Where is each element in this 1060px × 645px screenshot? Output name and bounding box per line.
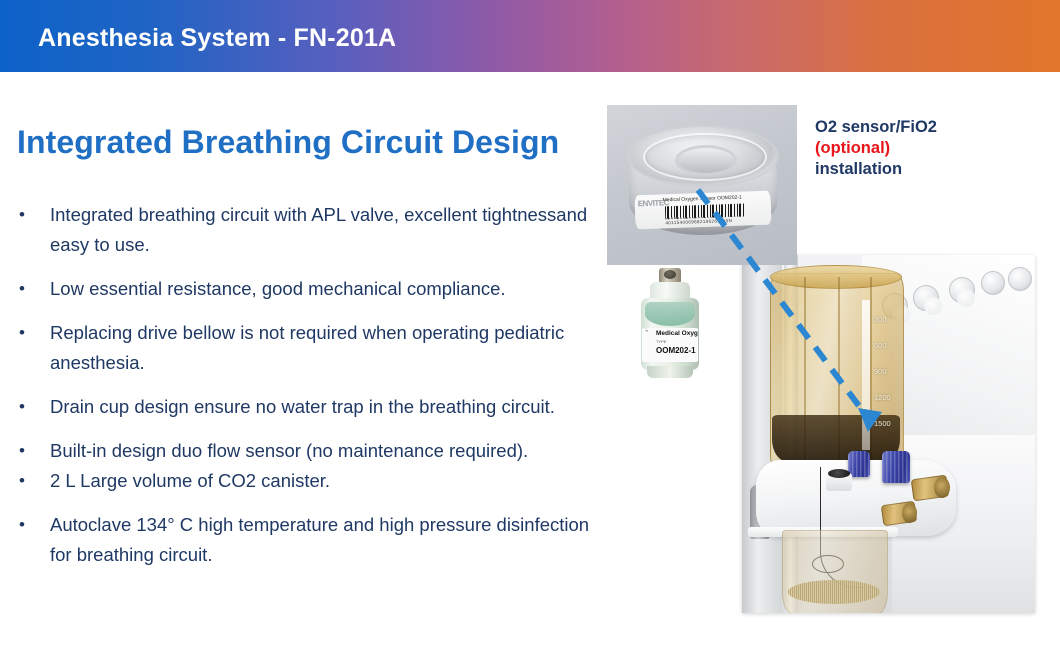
list-item: • 2 L Large volume of CO2 canister. [0,466,620,496]
header-banner: Anesthesia System - FN-201A [0,0,1060,72]
sensor-cell-label: 4 % Medical Oxygen TYPE OOM202-1 [642,328,698,362]
sensor-can-label-text: Medical Oxygen Sensor OOM202-1 [663,195,742,204]
sensor-cell-contact [664,270,676,279]
sensor-can-pull-tab [675,145,737,176]
section-heading: Integrated Breathing Circuit Design [17,124,559,161]
bullet-marker-icon: • [0,318,50,348]
bullet-marker-icon: • [0,510,50,540]
sensor-can-barcode-number: 4011540069682106261100N [665,218,732,225]
list-item: • Integrated breathing circuit with APL … [0,200,620,260]
sensor-cell-label-line1: Medical Oxygen [656,330,698,337]
co2-canister-mesh [788,580,880,604]
list-item: • Autoclave 134° C high temperature and … [0,510,620,570]
callout-line-2: (optional) [815,138,937,159]
sensor-cell-photo: 4 % Medical Oxygen TYPE OOM202-1 [631,268,709,380]
sensor-cell-label-line3: OOM202-1 [656,346,696,355]
sensor-cell-label-side: 4 % [644,328,649,332]
list-item-label: Built-in design duo flow sensor (no main… [50,436,528,466]
knob-blue-right [882,451,910,483]
bellows-scale-strip [862,300,870,450]
circuit-port-upper-hole [934,477,950,498]
list-item-label: Drain cup design ensure no water trap in… [50,392,555,422]
list-item: • Replacing drive bellow is not required… [0,318,620,378]
callout-line-1: O2 sensor/FiO2 [815,117,937,138]
bullet-marker-icon: • [0,436,50,466]
list-item: • Low essential resistance, good mechani… [0,274,620,304]
list-item: • Drain cup design ensure no water trap … [0,392,620,422]
bullet-marker-icon: • [0,466,50,496]
scale-tick-1200: 1200 [874,393,891,402]
gauge-face-3 [957,289,975,307]
circuit-port-lower-hole [902,503,917,523]
scale-tick-900: 900 [874,367,887,376]
feature-bullet-list: • Integrated breathing circuit with APL … [0,200,620,570]
callout-line-3: installation [815,159,937,180]
bellows-jar-top [770,265,902,289]
bullet-marker-icon: • [0,200,50,230]
gauge-4 [981,271,1005,295]
list-item: • Built-in design duo flow sensor (no ma… [0,436,620,466]
barcode-icon [665,204,745,220]
sensor-cell-electrolyte [645,302,695,326]
sensor-can-label: ENVITEC Medical Oxygen Sensor OOM202-1 4… [634,191,771,230]
scale-tick-1500: 1500 [874,419,891,428]
scale-tick-300: 300 [874,315,887,324]
list-item-label: Integrated breathing circuit with APL va… [50,200,615,260]
list-item-label: Replacing drive bellow is not required w… [50,318,615,378]
gauge-face-2 [924,297,942,315]
bullet-marker-icon: • [0,274,50,304]
list-item-label: Autoclave 134° C high temperature and hi… [50,510,615,570]
page-title: Anesthesia System - FN-201A [38,24,396,53]
machine-photo: 300 600 900 1200 1500 [742,255,1035,613]
sensor-can-photo: ENVITEC Medical Oxygen Sensor OOM202-1 4… [607,105,797,265]
gauge-5 [1008,267,1032,291]
knob-ridges [882,451,910,483]
list-item-label: Low essential resistance, good mechanica… [50,274,506,304]
sensor-cell-base [647,366,693,378]
list-item-label: 2 L Large volume of CO2 canister. [50,466,330,496]
callout-annotation: O2 sensor/FiO2 (optional) installation [815,117,937,180]
sensor-cell-label-line2: TYPE [656,339,666,344]
bullet-marker-icon: • [0,392,50,422]
scale-tick-600: 600 [874,341,887,350]
